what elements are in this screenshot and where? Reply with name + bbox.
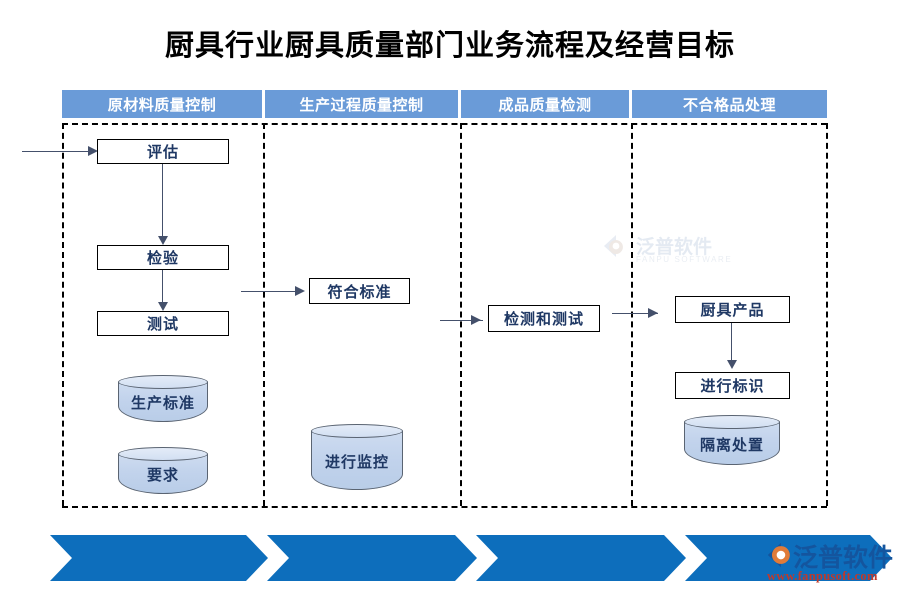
swimlane-divider-2: [460, 123, 462, 506]
datastore-isolation-disposal-label: 隔离处置: [684, 423, 780, 465]
node-inspect-label: 检验: [147, 247, 179, 268]
connector-evaluate-to-inspect-arrowhead: [158, 236, 168, 245]
datastore-monitoring-label: 进行监控: [311, 432, 403, 490]
banner-chevron-1[interactable]: [50, 535, 268, 581]
connector-inspect-to-test-arrowhead: [158, 302, 168, 311]
connector-evaluate-to-inspect: [162, 164, 163, 239]
diagram-canvas: 厨具行业厨具质量部门业务流程及经营目标 原材料质量控制 生产过程质量控制 成品质…: [0, 0, 900, 600]
node-evaluate[interactable]: 评估: [97, 139, 229, 164]
lane-header-raw-material-quality-control[interactable]: 原材料质量控制: [62, 90, 262, 118]
connector-lane1-to-lane2: [241, 291, 297, 292]
node-mark-identification[interactable]: 进行标识: [675, 372, 790, 399]
page-title: 厨具行业厨具质量部门业务流程及经营目标: [0, 22, 900, 64]
brand-logo-icon: [765, 540, 795, 570]
banner-chevron-2[interactable]: [267, 535, 477, 581]
node-kitchenware-product[interactable]: 厨具产品: [675, 296, 790, 323]
swimlane-divider-right: [826, 123, 828, 506]
datastore-production-standard[interactable]: 生产标准: [118, 375, 208, 422]
swimlane-divider-3: [631, 123, 633, 506]
lane-header-nonconforming-product-handling[interactable]: 不合格品处理: [632, 90, 827, 118]
lane-header-finished-product-inspection[interactable]: 成品质量检测: [461, 90, 629, 118]
node-meets-standard[interactable]: 符合标准: [309, 278, 410, 304]
connector-lane2-to-lane3-arrowhead: [471, 315, 481, 325]
node-detect-and-test-label: 检测和测试: [504, 308, 584, 329]
lane-header-production-process-quality-control[interactable]: 生产过程质量控制: [265, 90, 458, 118]
datastore-isolation-disposal[interactable]: 隔离处置: [684, 415, 780, 465]
node-meets-standard-label: 符合标准: [327, 281, 391, 302]
connector-lane1-to-lane2-arrowhead: [295, 286, 305, 296]
lane-header-label: 成品质量检测: [498, 94, 591, 115]
lane-header-label: 生产过程质量控制: [299, 94, 423, 115]
connector-product-to-marking-arrowhead: [727, 360, 737, 369]
node-detect-and-test[interactable]: 检测和测试: [488, 305, 600, 332]
node-inspect[interactable]: 检验: [97, 245, 229, 270]
swimlane-divider-1: [263, 123, 265, 506]
node-kitchenware-product-label: 厨具产品: [700, 299, 764, 320]
watermark-name-en: FANPU SOFTWARE: [636, 255, 732, 264]
watermark: 泛普软件 FANPU SOFTWARE: [600, 232, 730, 274]
datastore-requirements-label: 要求: [118, 455, 208, 494]
connector-inspect-to-test: [162, 270, 163, 305]
swimlane-bottom-border: [62, 506, 827, 508]
banner-chevron-3[interactable]: [476, 535, 686, 581]
brand-logo-url: www.fanpusoft.com: [767, 569, 878, 584]
datastore-requirements[interactable]: 要求: [118, 447, 208, 494]
node-test[interactable]: 测试: [97, 311, 229, 336]
datastore-production-standard-label: 生产标准: [118, 383, 208, 422]
swimlane-divider-left: [62, 123, 64, 506]
datastore-monitoring[interactable]: 进行监控: [311, 424, 403, 490]
swimlane-top-border: [62, 123, 827, 125]
node-evaluate-label: 评估: [147, 141, 179, 162]
brand-logo[interactable]: 泛普软件 www.fanpusoft.com: [765, 536, 897, 592]
connector-lane3-to-lane4-arrowhead: [648, 308, 658, 318]
lane-header-label: 不合格品处理: [683, 94, 776, 115]
inbound-connector-line: [22, 151, 90, 152]
node-mark-identification-label: 进行标识: [700, 375, 764, 396]
connector-product-to-marking: [731, 323, 732, 363]
lane-header-label: 原材料质量控制: [108, 94, 217, 115]
watermark-logo-icon: [600, 232, 632, 260]
node-test-label: 测试: [147, 313, 179, 334]
